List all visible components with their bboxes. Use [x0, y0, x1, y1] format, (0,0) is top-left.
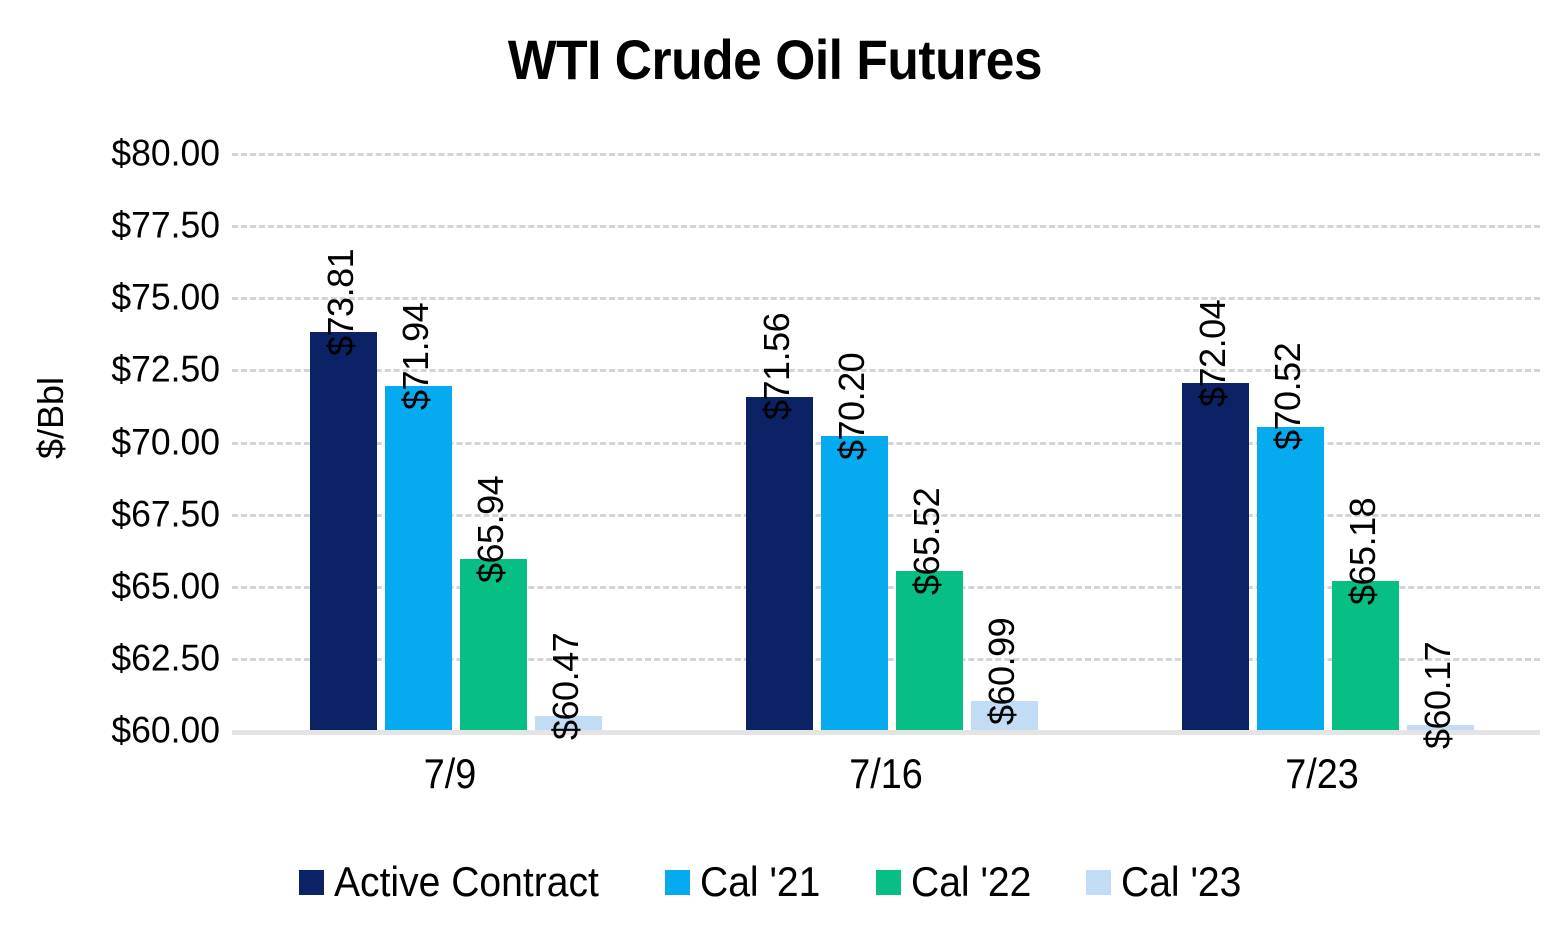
legend-swatch-icon	[1086, 870, 1111, 895]
legend-swatch-icon	[299, 870, 324, 895]
y-axis-tick-label: $80.00	[66, 135, 220, 172]
x-axis-tick-label: 7/23	[1126, 750, 1518, 798]
bar-value-label: $73.81	[323, 248, 359, 355]
bar	[821, 436, 888, 730]
bar-value-label: $60.17	[1420, 642, 1456, 749]
legend-item[interactable]: Cal '21	[665, 858, 829, 906]
legend-label: Cal '22	[911, 858, 1031, 906]
bar-value-label: $70.52	[1270, 343, 1306, 450]
legend-label: Cal '21	[700, 858, 820, 906]
bar	[310, 332, 377, 730]
wti-crude-oil-futures-chart: WTI Crude Oil Futures $/Bbl $80.00$77.50…	[0, 0, 1550, 947]
legend-label: Active Contract	[334, 858, 599, 906]
y-axis-tick-label: $60.00	[66, 712, 220, 749]
y-axis-tick-label: $62.50	[66, 639, 220, 676]
bar-value-label: $60.47	[548, 633, 584, 740]
y-axis-tick-label: $65.00	[66, 567, 220, 604]
bar-value-label: $65.18	[1345, 497, 1381, 604]
y-axis-tick-label: $75.00	[66, 279, 220, 316]
legend-swatch-icon	[876, 870, 901, 895]
legend-item[interactable]: Cal '22	[876, 858, 1040, 906]
legend-swatch-icon	[665, 870, 690, 895]
chart-legend: Active ContractCal '21Cal '22Cal '23	[0, 858, 1550, 906]
legend-item[interactable]: Cal '23	[1086, 858, 1250, 906]
bars-layer: $73.81$71.94$65.94$60.47$71.56$70.20$65.…	[232, 153, 1540, 730]
y-axis-tick-label: $70.00	[66, 423, 220, 460]
legend-label: Cal '23	[1121, 858, 1241, 906]
bar-value-label: $65.94	[473, 476, 509, 583]
x-axis-tick-label: 7/16	[690, 750, 1082, 798]
x-axis-tick-label: 7/9	[254, 750, 646, 798]
bar	[746, 397, 813, 731]
chart-title: WTI Crude Oil Futures	[62, 28, 1488, 92]
x-axis-line	[232, 730, 1540, 735]
bar-value-label: $70.20	[834, 353, 870, 460]
y-axis-tick-label: $67.50	[66, 495, 220, 532]
bar-value-label: $65.52	[909, 488, 945, 595]
bar	[1182, 383, 1249, 730]
y-axis-tick-labels: $80.00$77.50$75.00$72.50$70.00$67.50$65.…	[60, 0, 220, 947]
bar	[385, 386, 452, 730]
legend-item[interactable]: Active Contract	[299, 858, 619, 906]
bar	[460, 559, 527, 730]
bar-value-label: $71.56	[759, 313, 795, 420]
y-axis-tick-label: $72.50	[66, 351, 220, 388]
bar-value-label: $72.04	[1195, 300, 1231, 407]
bar-value-label: $71.94	[398, 302, 434, 409]
y-axis-tick-label: $77.50	[66, 207, 220, 244]
bar	[1257, 427, 1324, 731]
bar-value-label: $60.99	[984, 618, 1020, 725]
